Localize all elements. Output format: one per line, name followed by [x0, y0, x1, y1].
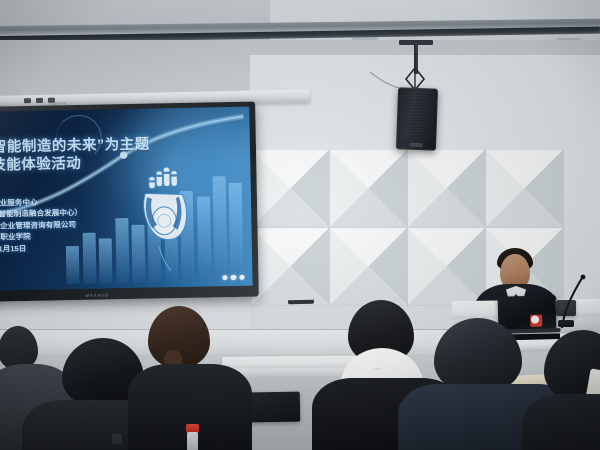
screen-stop-button[interactable]: [36, 98, 43, 103]
led-display[interactable]: 宇宙：智能制造的未来”为主题 职业技能体验活动 位： 苏州市企业服务中心 （苏州…: [0, 102, 259, 302]
speaker-badge: [410, 143, 423, 147]
desk-monitor[interactable]: [248, 392, 301, 423]
display-dot-1[interactable]: [222, 275, 228, 281]
slide-row-value: 苏州百年职业学院: [0, 232, 31, 242]
display-brand-label: MAXHUB: [86, 292, 109, 297]
jacket-pocket-detail: [112, 434, 122, 444]
side-device[interactable]: [556, 300, 576, 316]
display-stand-foot: [288, 300, 314, 304]
slide-row: （苏州市智能制造融合发展中心）: [0, 205, 252, 219]
display-screen[interactable]: 宇宙：智能制造的未来”为主题 职业技能体验活动 位： 苏州市企业服务中心 （苏州…: [0, 107, 253, 291]
slide-row-value: 苏州市企业服务中心: [0, 197, 38, 207]
slide-row-value: 苏州拓轩企业管理咨询有限公司: [0, 220, 76, 231]
display-control-dots[interactable]: [222, 274, 245, 280]
display-dot-2[interactable]: [230, 274, 236, 280]
body: [522, 394, 600, 450]
audience-member-right-mask: [528, 330, 600, 450]
speaker-enclosure: [396, 87, 438, 150]
slide-date-value: 2023年11月15日: [0, 244, 26, 254]
water-bottle[interactable]: [186, 424, 199, 450]
display-dot-3[interactable]: [239, 274, 245, 280]
ceiling-speaker: [388, 40, 448, 150]
slide-title: 宇宙：智能制造的未来”为主题 职业技能体验活动: [0, 134, 247, 177]
speaker-grille: [399, 91, 435, 140]
head: [434, 318, 522, 394]
speaker-cable: [368, 70, 400, 92]
screen-up-button[interactable]: [24, 98, 31, 103]
presentation-slide: 宇宙：智能制造的未来”为主题 职业技能体验活动 位： 苏州市企业服务中心 （苏州…: [0, 107, 253, 291]
slide-row-value: （苏州市智能制造融合发展中心）: [0, 208, 82, 219]
hood-print: ▪▪▪▪: [374, 366, 382, 371]
photo-scene: CONTROL: [0, 0, 600, 450]
slide-info-block: 位： 苏州市企业服务中心 （苏州市智能制造融合发展中心） 位： 苏州拓轩企业管理…: [0, 194, 253, 254]
bottle-body: [187, 432, 198, 450]
display-bezel: 宇宙：智能制造的未来”为主题 职业技能体验活动 位： 苏州市企业服务中心 （苏州…: [0, 102, 259, 302]
audience-member-ponytail: [124, 306, 244, 450]
